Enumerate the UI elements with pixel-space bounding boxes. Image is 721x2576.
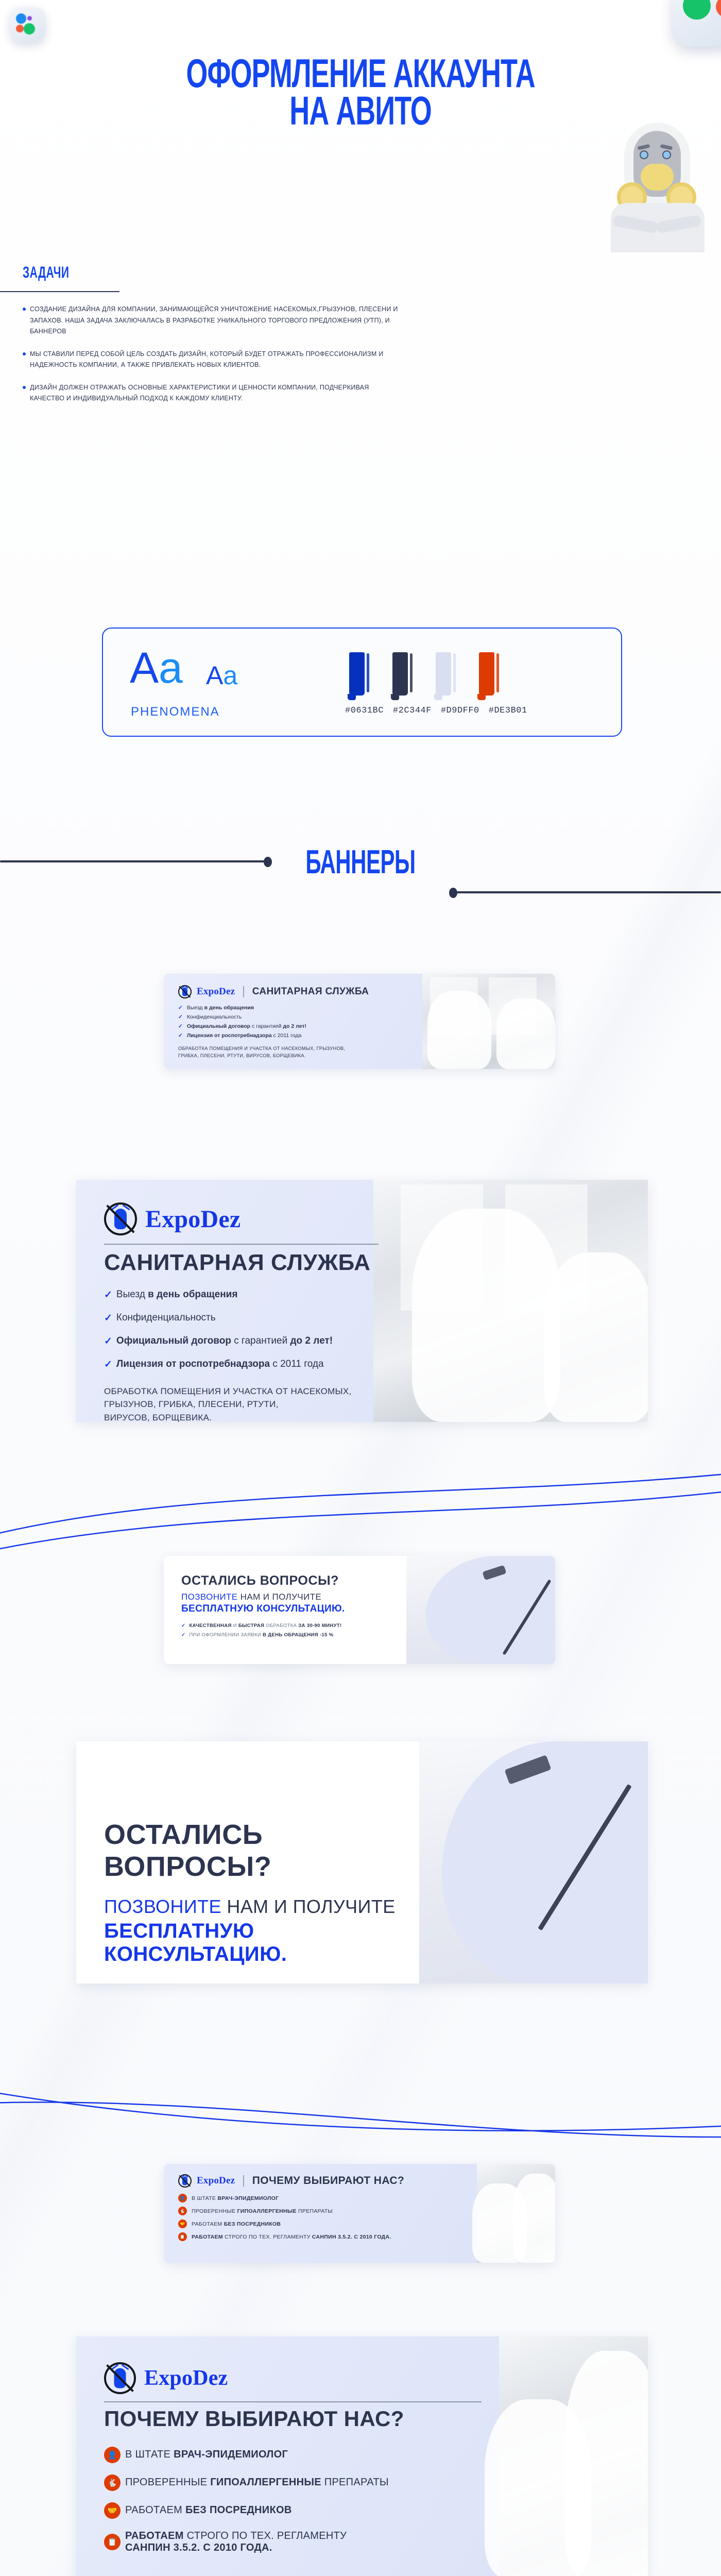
document-gear-icon: 📋	[104, 2534, 121, 2550]
benefit-text: Официальный договор с гарантией до 2 лет…	[187, 1023, 306, 1029]
section-title: БАННЕРЫ	[0, 843, 721, 881]
list-item: ✓ Выезд в день обращения	[178, 1005, 421, 1011]
task-text: МЫ СТАВИЛИ ПЕРЕД СОБОЙ ЦЕЛЬ СОЗДАТЬ ДИЗА…	[30, 349, 399, 371]
list-item: ✓ Официальный договор с гарантией до 2 л…	[104, 1335, 379, 1347]
list-item: 🐇 ПРОВЕРЕННЫЕ ГИПОАЛЛЕРГЕННЫЕ ПРЕПАРАТЫ	[104, 2475, 482, 2491]
subtitle-blue: ПОЗВОНИТЕ	[104, 1896, 221, 1917]
task-text: СОЗДАНИЕ ДИЗАЙНА ДЛЯ КОМПАНИИ, ЗАНИМАЮЩЕ…	[30, 304, 399, 337]
task-text: ДИЗАЙН ДОЛЖЕН ОТРАЖАТЬ ОСНОВНЫЕ ХАРАКТЕР…	[30, 382, 399, 404]
list-item: ✓ Конфиденциальность	[178, 1014, 421, 1020]
banner-subtitle-line1: ПОЗВОНИТЕ НАМ И ПОЛУЧИТЕ	[104, 1896, 436, 1918]
list-item: 🐇 ПРОВЕРЕННЫЕ ГИПОАЛЛЕРГЕННЫЕ ПРЕПАРАТЫ	[178, 2207, 476, 2215]
banner-title: САНИТАРНАЯ СЛУЖБА	[252, 986, 369, 997]
benefits-list: 👤 В ШТАТЕ ВРАЧ-ЭПИДЕМИОЛОГ 🐇 ПРОВЕРЕННЫЕ…	[178, 2194, 476, 2241]
banner-header: ExpoDez САНИТАРНАЯ СЛУЖБА	[178, 985, 421, 998]
hex-label: #2C344F	[393, 706, 432, 716]
benefit-text: ПРОВЕРЕННЫЕ ГИПОАЛЛЕРГЕННЫЕ ПРЕПАРАТЫ	[192, 2208, 333, 2214]
benefit-text: ПРИ ОФОРМЛЕНИИ ЗАЯВКИ В ДЕНЬ ОБРАЩЕНИЯ -…	[189, 1632, 333, 1638]
hex-label: #D9DFF0	[441, 706, 479, 716]
banner-title: САНИТАРНАЯ СЛУЖБА	[104, 1250, 379, 1276]
benefit-text: Выезд в день обращения	[116, 1289, 238, 1300]
list-item: 📋 РАБОТАЕМ СТРОГО ПО ТЕХ. РЕГЛАМЕНТУ САН…	[178, 2232, 476, 2241]
banner-brand-row: ExpoDez	[104, 1202, 379, 1235]
list-item: СОЗДАНИЕ ДИЗАЙНА ДЛЯ КОМПАНИИ, ЗАНИМАЮЩЕ…	[23, 304, 399, 337]
page-title: ОФОРМЛЕНИЕ АККАУНТА НА АВИТО	[0, 56, 721, 130]
list-item: ✓ Лицензия от роспотребнадзора с 2011 го…	[178, 1032, 421, 1039]
doctor-icon: 👤	[178, 2194, 187, 2202]
brand-name: ExpoDez	[145, 1205, 241, 1233]
benefit-text: Лицензия от роспотребнадзора с 2011 года	[116, 1359, 324, 1370]
avito-logo-large-icon	[673, 0, 721, 46]
subtitle-blue: ПОЗВОНИТЕ	[181, 1592, 238, 1602]
check-icon: ✓	[104, 1335, 112, 1347]
banner-title: ПОЧЕМУ ВЫБИРАЮТ НАС?	[104, 2406, 482, 2431]
brand-name: ExpoDez	[197, 986, 235, 997]
list-item: ✓ Выезд в день обращения	[104, 1289, 379, 1301]
banner-sanitary-small: ExpoDez САНИТАРНАЯ СЛУЖБА ✓ Выезд в день…	[164, 974, 555, 1069]
divider	[104, 1244, 379, 1245]
hex-label: #DE3B01	[489, 706, 527, 716]
divider	[243, 2175, 244, 2187]
section-header-banners: БАННЕРЫ	[0, 840, 721, 917]
tasks-heading: ЗАДАЧИ	[23, 264, 69, 282]
banner-brand-row: ExpoDez	[104, 2362, 482, 2394]
bullet-icon	[23, 308, 26, 311]
banner-footnote-line3: ВИРУСОВ, БОРЩЕВИКА.	[104, 1411, 379, 1422]
check-icon: ✓	[104, 1312, 112, 1324]
check-icon: ✓	[104, 1359, 112, 1370]
tasks-list: СОЗДАНИЕ ДИЗАЙНА ДЛЯ КОМПАНИИ, ЗАНИМАЮЩЕ…	[23, 304, 399, 416]
benefit-text: КАЧЕСТВЕННАЯ И БЫСТРАЯ ОБРАБОТКА ЗА 30-9…	[189, 1623, 341, 1629]
rabbit-icon: 🐇	[178, 2207, 187, 2215]
banner-footnote-line2: ГРИБКА, ПЛЕСЕНИ, РТУТИ, ВИРУСОВ, БОРЩЕВИ…	[178, 1052, 421, 1059]
avito-logo-icon	[10, 7, 45, 42]
check-icon: ✓	[178, 1023, 183, 1029]
hex-label: #0631BC	[345, 706, 384, 716]
handshake-icon: 🤝	[104, 2502, 121, 2519]
respirator-worker-illustration	[609, 123, 707, 251]
handshake-icon: 🤝	[178, 2219, 187, 2228]
brand-name: ExpoDez	[197, 2175, 235, 2187]
banner-why-small: ExpoDez ПОЧЕМУ ВЫБИРАЮТ НАС? 👤 В ШТАТЕ В…	[164, 2164, 555, 2263]
list-item: 👤 В ШТАТЕ ВРАЧ-ЭПИДЕМИОЛОГ	[104, 2447, 482, 2463]
banner-title: ОСТАЛИСЬ ВОПРОСЫ?	[181, 1573, 416, 1588]
list-item: 🤝 РАБОТАЕМ БЕЗ ПОСРЕДНИКОВ	[104, 2502, 482, 2519]
list-item: 👤 В ШТАТЕ ВРАЧ-ЭПИДЕМИОЛОГ	[178, 2194, 476, 2202]
benefit-text: Официальный договор с гарантией до 2 лет…	[116, 1335, 333, 1347]
list-item: 🤝 РАБОТАЕМ БЕЗ ПОСРЕДНИКОВ	[178, 2219, 476, 2228]
brand-name: ExpoDez	[144, 2366, 228, 2391]
list-item: ✓ ПРИ ОФОРМЛЕНИИ ЗАЯВКИ В ДЕНЬ ОБРАЩЕНИЯ…	[181, 1632, 416, 1638]
benefit-text: Конфиденциальность	[116, 1312, 216, 1324]
divider	[243, 986, 244, 997]
font-sample-large: Aa	[130, 646, 183, 689]
header-line-right	[453, 891, 721, 893]
doctor-icon: 👤	[104, 2447, 121, 2463]
bug-crossed-icon	[104, 1202, 137, 1235]
list-item: ✓ Лицензия от роспотребнадзора с 2011 го…	[104, 1359, 379, 1370]
benefit-text: ПРОВЕРЕННЫЕ ГИПОАЛЛЕРГЕННЫЕ ПРЕПАРАТЫ	[125, 2477, 389, 2488]
tasks-divider	[0, 291, 119, 292]
subtitle-dark: НАМ И ПОЛУЧИТЕ	[221, 1896, 396, 1917]
bullet-icon	[23, 386, 26, 389]
color-hex-labels: #0631BC #2C344F #D9DFF0 #DE3B01	[345, 706, 527, 716]
bullet-icon	[23, 352, 26, 355]
rabbit-icon: 🐇	[104, 2475, 121, 2491]
check-icon: ✓	[104, 1289, 112, 1301]
benefit-text: Лицензия от роспотребнадзора с 2011 года	[187, 1032, 302, 1039]
benefits-list: ✓ Выезд в день обращения ✓ Конфиденциаль…	[104, 1289, 379, 1370]
banner-footnote-line1: ОБРАБОТКА ПОМЕЩЕНИЯ И УЧАСТКА ОТ НАСЕКОМ…	[104, 1385, 379, 1398]
banner-questions-small: ОСТАЛИСЬ ВОПРОСЫ? ПОЗВОНИТЕ НАМ И ПОЛУЧИ…	[164, 1556, 555, 1664]
benefits-list: ✓ Выезд в день обращения ✓ Конфиденциаль…	[178, 1005, 421, 1039]
divider	[104, 2401, 482, 2402]
font-sample-small: Aa	[206, 663, 237, 688]
check-icon: ✓	[178, 1014, 183, 1020]
benefit-text: В ШТАТЕ ВРАЧ-ЭПИДЕМИОЛОГ	[125, 2449, 288, 2461]
subtitle-dark: НАМ И ПОЛУЧИТЕ	[238, 1592, 322, 1602]
list-item: ✓ Конфиденциальность	[104, 1312, 379, 1324]
bug-crossed-icon	[104, 2362, 136, 2394]
swatch-1	[349, 652, 365, 696]
portfolio-page: ОФОРМЛЕНИЕ АККАУНТА НА АВИТО ЗАДАЧИ СОЗД…	[0, 0, 721, 2576]
benefit-text: РАБОТАЕМ СТРОГО ПО ТЕХ. РЕГЛАМЕНТУ САНПИ…	[192, 2234, 391, 2240]
banner-subtitle-line2: БЕСПЛАТНУЮ КОНСУЛЬТАЦИЮ.	[104, 1920, 436, 1966]
swatch-3	[436, 652, 451, 696]
benefit-text: Выезд в день обращения	[187, 1005, 254, 1011]
benefit-text: РАБОТАЕМ БЕЗ ПОСРЕДНИКОВ	[192, 2221, 281, 2227]
bug-crossed-icon	[178, 985, 192, 998]
list-item: ✓ Официальный договор с гарантией до 2 л…	[178, 1023, 421, 1029]
benefit-text: РАБОТАЕМ СТРОГО ПО ТЕХ. РЕГЛАМЕНТУСАНПИН…	[125, 2530, 347, 2554]
check-icon: ✓	[178, 1032, 183, 1039]
banner-sanitary-large: ExpoDez САНИТАРНАЯ СЛУЖБА ✓ Выезд в день…	[76, 1180, 648, 1422]
list-item: МЫ СТАВИЛИ ПЕРЕД СОБОЙ ЦЕЛЬ СОЗДАТЬ ДИЗА…	[23, 349, 399, 371]
swatch-2	[392, 652, 408, 696]
banner-subtitle-line2: БЕСПЛАТНУЮ КОНСУЛЬТАЦИЮ.	[181, 1603, 416, 1615]
benefits-list: ✓ КАЧЕСТВЕННАЯ И БЫСТРАЯ ОБРАБОТКА ЗА 30…	[181, 1623, 416, 1638]
banner-title: ПОЧЕМУ ВЫБИРАЮТ НАС?	[252, 2175, 404, 2187]
banner-why-large: ExpoDez ПОЧЕМУ ВЫБИРАЮТ НАС? 👤 В ШТАТЕ В…	[76, 2336, 648, 2576]
benefit-text: Конфиденциальность	[187, 1014, 242, 1020]
check-icon: ✓	[181, 1632, 185, 1638]
list-item: ДИЗАЙН ДОЛЖЕН ОТРАЖАТЬ ОСНОВНЫЕ ХАРАКТЕР…	[23, 382, 399, 404]
font-name: PHENOMENA	[131, 705, 220, 719]
banner-footnote-line1: ОБРАБОТКА ПОМЕЩЕНИЯ И УЧАСТКА ОТ НАСЕКОМ…	[178, 1045, 421, 1052]
banner-questions-large: ОСТАЛИСЬ ВОПРОСЫ? ПОЗВОНИТЕ НАМ И ПОЛУЧИ…	[76, 1741, 648, 1984]
banner-title: ОСТАЛИСЬ ВОПРОСЫ?	[104, 1819, 436, 1883]
list-item: 📋 РАБОТАЕМ СТРОГО ПО ТЕХ. РЕГЛАМЕНТУСАНП…	[104, 2530, 482, 2554]
swatch-4	[479, 652, 494, 696]
decorative-swoosh	[0, 2076, 721, 2159]
palette-card: Aa Aa PHENOMENA #0631BC #2C344F #D9DFF0 …	[102, 628, 622, 737]
list-item: ✓ КАЧЕСТВЕННАЯ И БЫСТРАЯ ОБРАБОТКА ЗА 30…	[181, 1623, 416, 1629]
benefits-list: 👤 В ШТАТЕ ВРАЧ-ЭПИДЕМИОЛОГ 🐇 ПРОВЕРЕННЫЕ…	[104, 2447, 482, 2554]
check-icon: ✓	[181, 1623, 185, 1629]
banner-header: ExpoDez ПОЧЕМУ ВЫБИРАЮТ НАС?	[178, 2174, 476, 2188]
check-icon: ✓	[178, 1005, 183, 1011]
banner-subtitle-line1: ПОЗВОНИТЕ НАМ И ПОЛУЧИТЕ	[181, 1592, 416, 1602]
banner-footnote-line2: ГРЫЗУНОВ, ГРИБКА, ПЛЕСЕНИ, РТУТИ,	[104, 1398, 379, 1411]
benefit-text: РАБОТАЕМ БЕЗ ПОСРЕДНИКОВ	[125, 2504, 292, 2516]
document-gear-icon: 📋	[178, 2232, 187, 2241]
color-swatches	[349, 652, 494, 696]
bug-crossed-icon	[178, 2174, 192, 2188]
benefit-text: В ШТАТЕ ВРАЧ-ЭПИДЕМИОЛОГ	[192, 2195, 279, 2201]
